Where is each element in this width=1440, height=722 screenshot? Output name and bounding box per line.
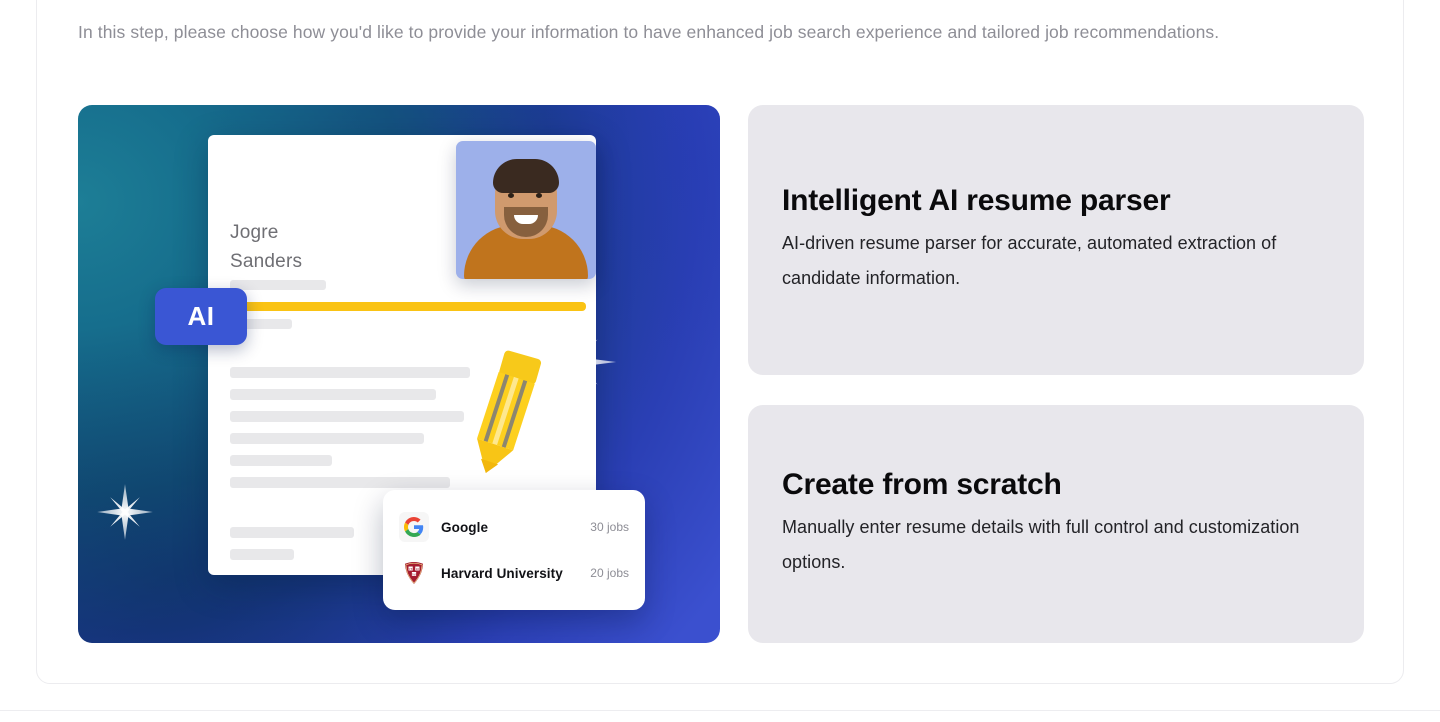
candidate-photo [456, 141, 596, 279]
skeleton-line [230, 549, 294, 560]
svg-text:TAS: TAS [411, 572, 417, 576]
ai-badge-label: AI [188, 301, 215, 332]
job-company-name: Google [441, 520, 590, 535]
job-company-name: Harvard University [441, 566, 590, 581]
skeleton-line [230, 477, 450, 488]
skeleton-line [230, 455, 332, 466]
step-intro-text: In this step, please choose how you'd li… [78, 18, 1348, 47]
job-count-label: 20 jobs [590, 566, 629, 580]
option-card-description: Manually enter resume details with full … [782, 510, 1330, 580]
google-logo-icon [399, 512, 429, 542]
skeleton-line [230, 389, 436, 400]
svg-text:RI: RI [416, 567, 419, 571]
photo-eye [508, 193, 514, 198]
photo-eye [536, 193, 542, 198]
resume-candidate-name: Jogre Sanders [230, 218, 302, 276]
skeleton-line [230, 433, 424, 444]
harvard-crest-icon: VE RI TAS [399, 558, 429, 588]
resume-accent-divider [230, 302, 586, 311]
ai-badge: AI [155, 288, 247, 345]
pencil-icon [468, 350, 542, 478]
step-content-row: Jogre Sanders [78, 105, 1364, 643]
job-suggestions-card[interactable]: Google 30 jobs VE RI TAS [383, 490, 645, 610]
option-card-title: Intelligent AI resume parser [782, 184, 1330, 218]
skeleton-line [230, 527, 354, 538]
job-row[interactable]: Google 30 jobs [399, 504, 629, 550]
skeleton-line [230, 411, 464, 422]
photo-hair [493, 159, 559, 193]
option-card-description: AI-driven resume parser for accurate, au… [782, 226, 1330, 296]
option-cards-column: Intelligent AI resume parser AI-driven r… [748, 105, 1364, 643]
sparkle-icon [533, 320, 617, 409]
footer-divider [0, 710, 1440, 711]
skeleton-line [230, 367, 470, 378]
ai-resume-parser-illustration: Jogre Sanders [78, 105, 720, 643]
skeleton-line [230, 280, 326, 290]
sparkle-icon [96, 483, 154, 546]
option-card-title: Create from scratch [782, 468, 1330, 502]
onboarding-step-page: In this step, please choose how you'd li… [0, 0, 1440, 722]
svg-text:VE: VE [409, 567, 413, 571]
option-card-create-from-scratch[interactable]: Create from scratch Manually enter resum… [748, 405, 1364, 643]
job-row[interactable]: VE RI TAS Harvard University 20 jobs [399, 550, 629, 596]
job-count-label: 30 jobs [590, 520, 629, 534]
option-card-ai-resume-parser[interactable]: Intelligent AI resume parser AI-driven r… [748, 105, 1364, 375]
